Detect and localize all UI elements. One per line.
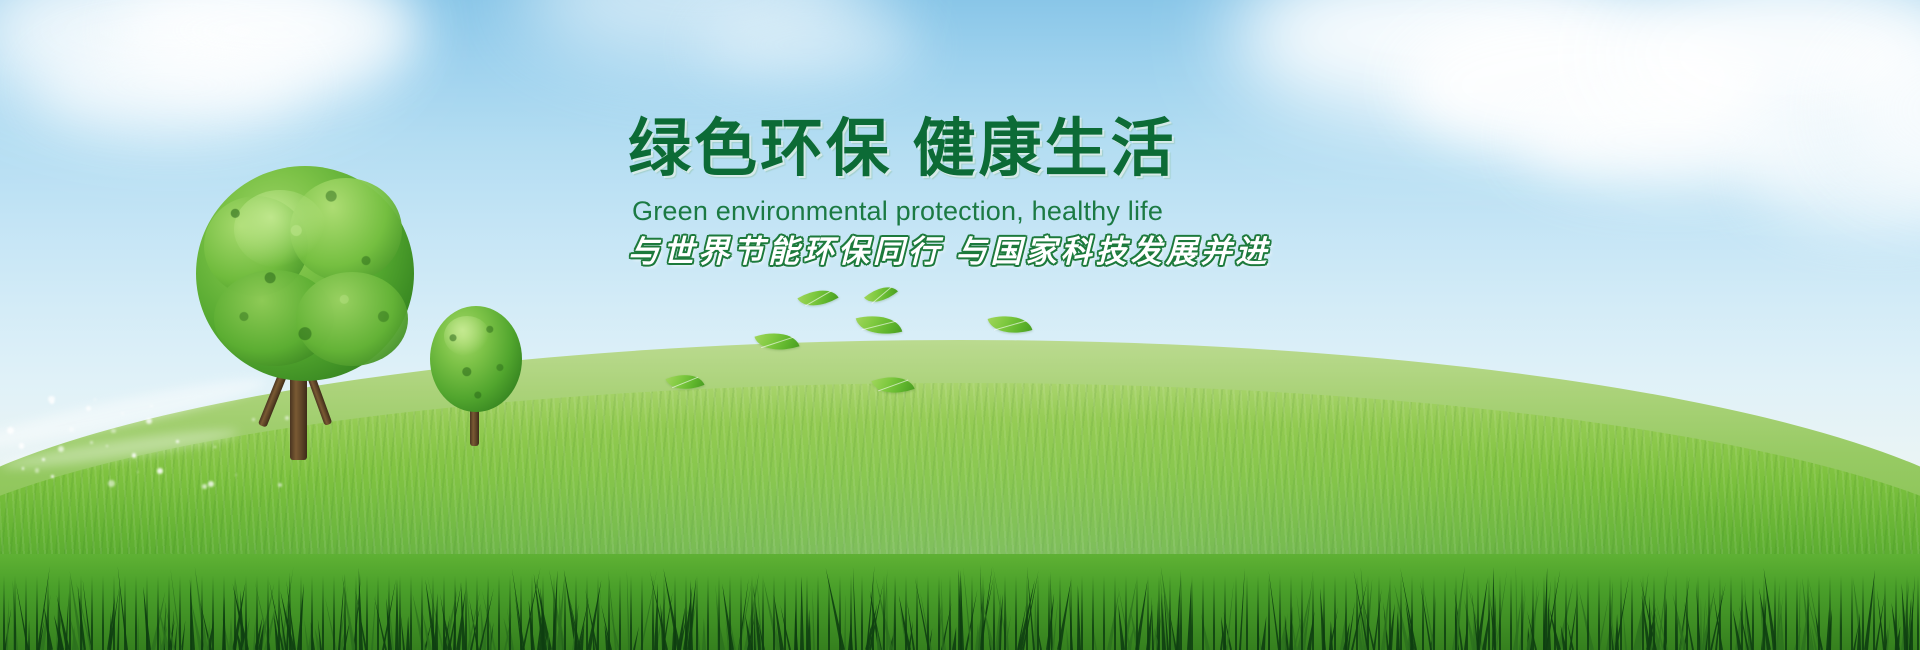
banner-tagline: 与世界节能环保同行 与国家科技发展并进 [628,236,1271,267]
banner-copy: 绿色环保 健康生活 Green environmental protection… [0,0,1920,650]
green-environment-banner: 绿色环保 健康生活 Green environmental protection… [0,0,1920,650]
banner-subtitle: Green environmental protection, healthy … [632,198,1163,225]
page-title: 绿色环保 健康生活 [628,118,1177,181]
